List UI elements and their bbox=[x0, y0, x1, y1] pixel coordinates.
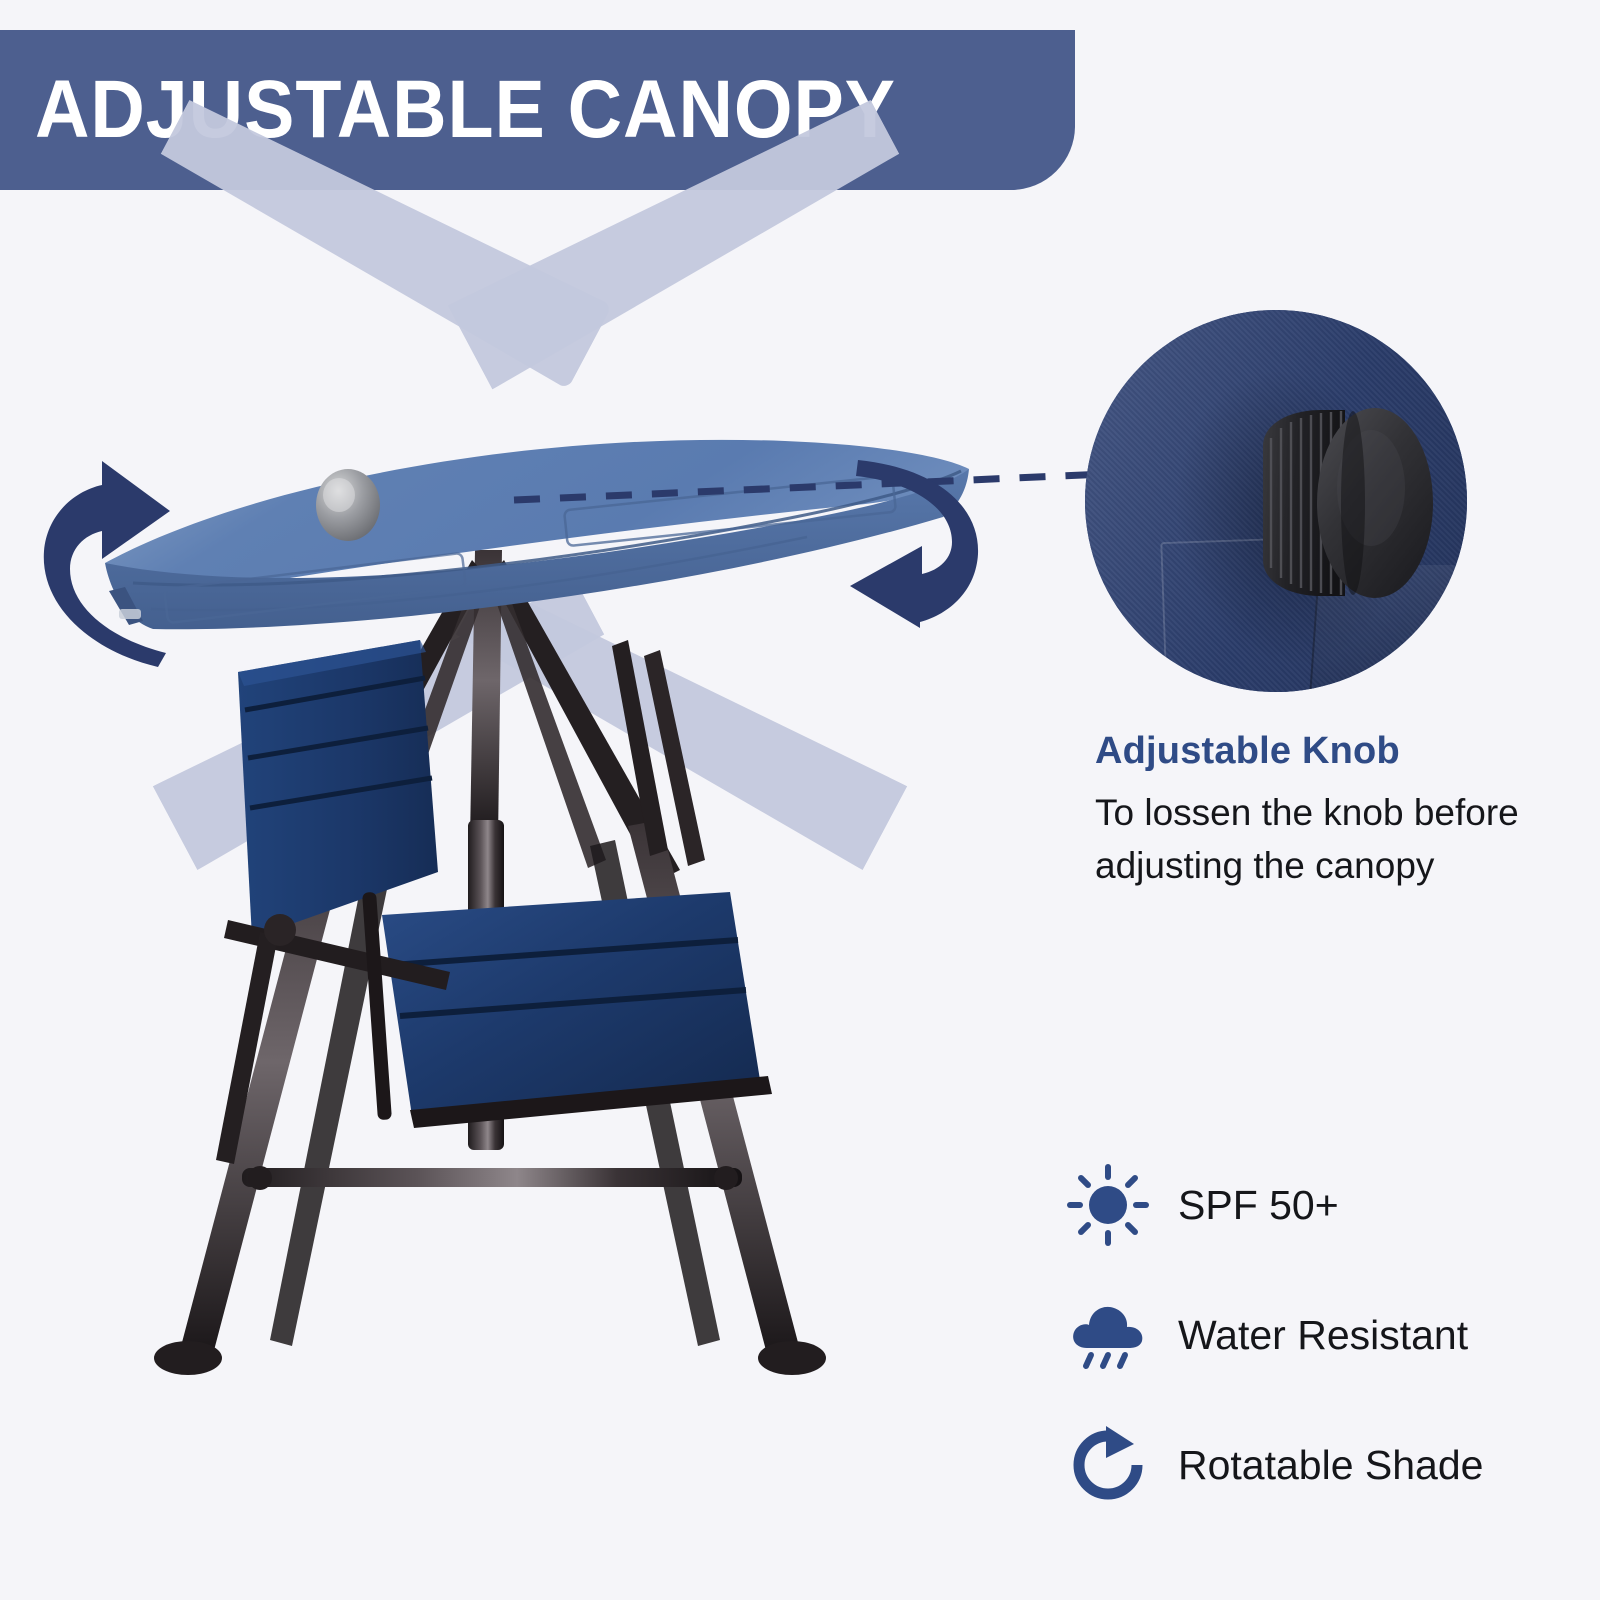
knob-callout: Adjustable Knob To lossen the knob befor… bbox=[1095, 730, 1525, 892]
callout-title: Adjustable Knob bbox=[1095, 730, 1525, 773]
feature-label-rotatable-shade: Rotatable Shade bbox=[1178, 1442, 1483, 1489]
infographic-page: ADJUSTABLE CANOPY bbox=[0, 0, 1600, 1600]
adjustable-knob-icon bbox=[1225, 388, 1455, 618]
feature-row-water-resistant: Water Resistant bbox=[1060, 1270, 1560, 1400]
rotate-right-arrow-icon bbox=[840, 450, 990, 630]
knob-detail-circle bbox=[1085, 310, 1467, 692]
rotate-cw-icon bbox=[1060, 1422, 1156, 1508]
rain-cloud-icon bbox=[1060, 1292, 1156, 1378]
callout-body: To lossen the knob before adjusting the … bbox=[1095, 787, 1525, 892]
feature-list: SPF 50+ Water Resistant bbox=[1060, 1140, 1560, 1530]
feature-label-spf: SPF 50+ bbox=[1178, 1182, 1339, 1229]
feature-row-spf: SPF 50+ bbox=[1060, 1140, 1560, 1270]
feature-row-rotatable-shade: Rotatable Shade bbox=[1060, 1400, 1560, 1530]
swing-frame-and-seat bbox=[120, 520, 920, 1420]
product-illustration bbox=[0, 0, 1040, 1250]
rotate-left-arrow-icon bbox=[30, 455, 180, 670]
ghost-canopy-position-2 bbox=[448, 85, 908, 390]
feature-label-water-resistant: Water Resistant bbox=[1178, 1312, 1468, 1359]
sun-icon bbox=[1060, 1162, 1156, 1248]
